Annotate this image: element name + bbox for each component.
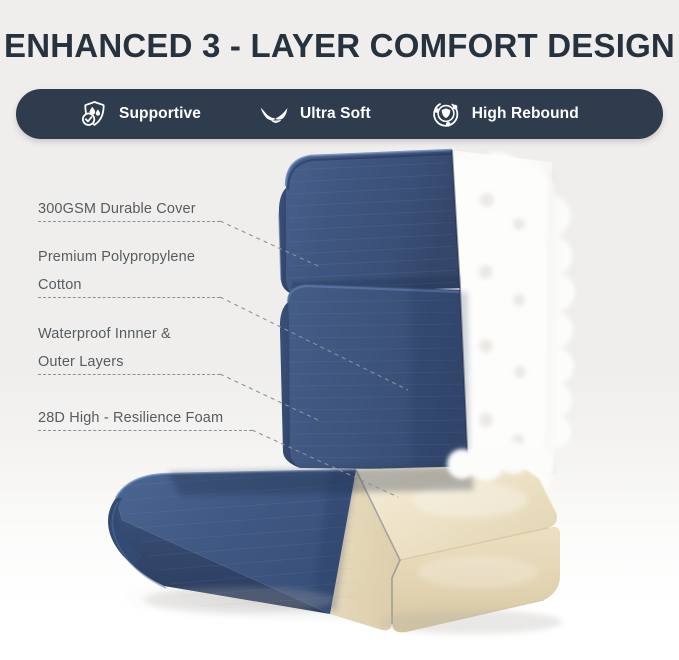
callout-resilience-foam: 28D High - Resilience Foam xyxy=(38,404,223,432)
seat-ground-shadow xyxy=(144,587,336,613)
callout-text-line1: Waterproof Innner & xyxy=(38,320,171,348)
callout-waterproof-layers: Waterproof Innner & Outer Layers xyxy=(38,320,171,376)
backrest-upper-cover xyxy=(279,150,462,296)
infographic-page: ENHANCED 3 - LAYER COMFORT DESIGN Suppor… xyxy=(0,0,679,660)
callout-underline-layers xyxy=(38,374,220,375)
backrest-lower-cover xyxy=(280,284,470,470)
callout-text-line1: 28D High - Resilience Foam xyxy=(38,404,223,432)
callout-text-line2: Outer Layers xyxy=(38,348,171,376)
callout-durable-cover: 300GSM Durable Cover xyxy=(38,195,196,223)
callout-underline-cover xyxy=(38,221,220,222)
callout-text-line1: Premium Polypropylene xyxy=(38,243,195,271)
callout-text-line2: Cotton xyxy=(38,271,195,299)
callout-underline-foam xyxy=(38,430,252,431)
callout-underline-cotton xyxy=(38,297,220,298)
foam-ground-shadow xyxy=(378,610,562,634)
callout-polypropylene-cotton: Premium Polypropylene Cotton xyxy=(38,243,195,299)
callout-text-line1: 300GSM Durable Cover xyxy=(38,195,196,223)
